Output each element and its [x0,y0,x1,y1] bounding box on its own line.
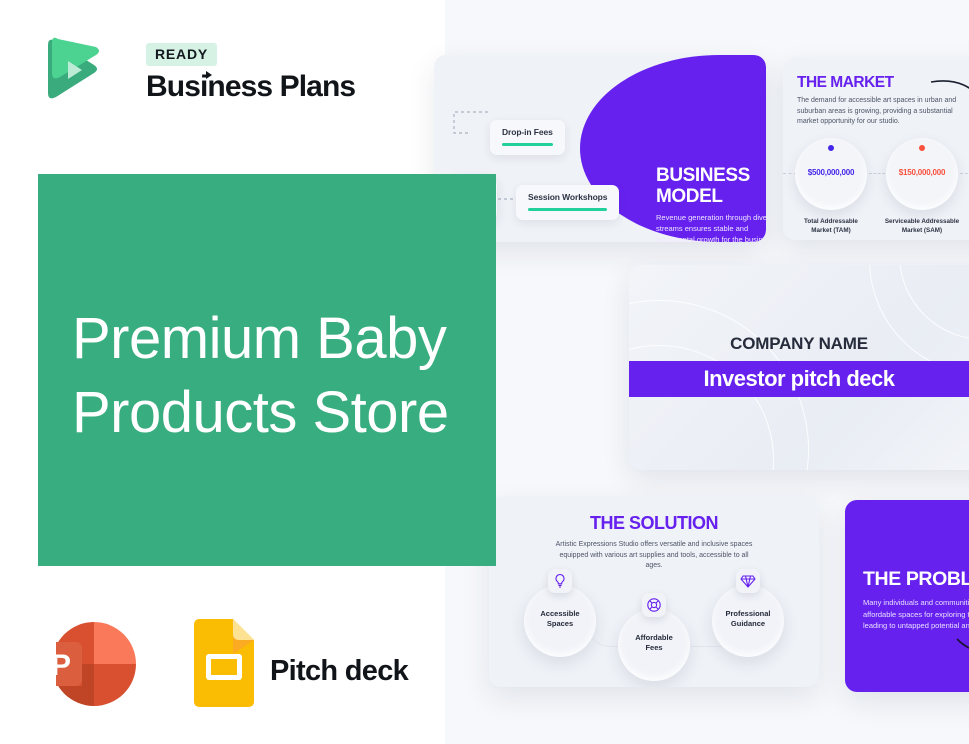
market-dot-sam [919,145,925,151]
slide-problem[interactable]: THE PROBLEM Many individuals and communi… [845,500,969,692]
market-dash-mid [869,173,885,174]
brand-play-dot-icon [206,71,212,79]
filetype-label: Pitch deck [270,655,408,688]
swoosh-icon [955,635,969,659]
diamond-icon [736,569,760,593]
page-title: Premium Baby Products Store [72,302,512,450]
slide-solution[interactable]: THE SOLUTION Artistic Expressions Studio… [489,497,819,687]
business-model-title: BUSINESS MODEL [656,165,750,207]
business-model-item[interactable]: Session Workshops [516,185,619,220]
solution-node[interactable]: Professional Guidance [712,585,784,657]
brand-name-text: Business Plans [146,70,355,103]
lightbulb-icon [548,569,572,593]
business-model-item-bar [528,208,607,211]
business-model-item-label: Drop-in Fees [502,127,553,137]
slide-title[interactable]: COMPANY NAME Investor pitch deck [629,265,969,470]
solution-node[interactable]: Accessible Spaces [524,585,596,657]
solution-node-label: Affordable Fees [618,633,690,653]
business-model-item-bar [502,143,553,146]
market-caption-tam: Total Addressable Market (TAM) [788,218,874,235]
lifebuoy-icon [642,593,666,617]
market-dot-tam [828,145,834,151]
ready-badge: READY [146,43,217,66]
slide-market[interactable]: THE MARKET The demand for accessible art… [783,58,969,240]
market-metric-circle-sam: $150,000,000 [886,138,958,210]
play-logo-icon [38,33,102,105]
solution-node-label: Accessible Spaces [524,609,596,629]
svg-text:P: P [51,649,71,682]
business-model-item-label: Session Workshops [528,192,607,202]
solution-node[interactable]: Affordable Fees [618,609,690,681]
solution-title: THE SOLUTION [489,513,819,534]
business-model-item[interactable]: Drop-in Fees [490,120,565,155]
problem-description: Many individuals and communities lack ac… [863,597,969,632]
curved-arrow-icon [929,76,969,116]
google-slides-icon [190,618,258,708]
problem-title: THE PROBLEM [863,568,969,591]
market-metric-circle-tam: $500,000,000 [795,138,867,210]
solution-description: Artistic Expressions Studio offers versa… [554,540,754,572]
market-title: THE MARKET [797,74,894,92]
market-caption-sam: Serviceable Addressable Market (SAM) [879,218,965,235]
title-slide-subtitle: Investor pitch deck [629,361,969,397]
market-dash-right [960,173,969,174]
brand-text: READY Business Plans [146,43,355,104]
market-value-sam: $150,000,000 [886,168,958,177]
market-value-tam: $500,000,000 [795,168,867,177]
poster-canvas: $ Drop-in Fees Session Workshops Commiss… [0,0,969,744]
business-model-description: Revenue generation through diverse strea… [656,212,766,242]
powerpoint-icon: P [38,620,142,708]
title-slide-company-name: COMPANY NAME [629,334,969,354]
brand-name: Business Plans [146,70,355,104]
title-slide-band: Investor pitch deck [629,361,969,397]
solution-node-label: Professional Guidance [712,609,784,629]
